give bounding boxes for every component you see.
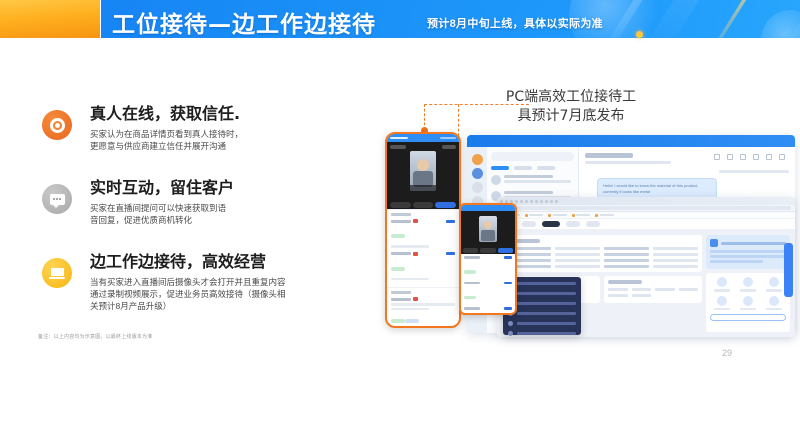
message-list bbox=[461, 254, 515, 315]
record-dot-icon bbox=[42, 110, 72, 140]
browser-bookmarks-bar[interactable] bbox=[497, 212, 795, 219]
quick-actions-panel[interactable] bbox=[706, 273, 790, 332]
feature-desc-line: 买家认为在商品详情页看到真人接待时， bbox=[90, 128, 360, 140]
page-title: 工位接待—边工作边接待 bbox=[112, 5, 376, 39]
mobile-overlay-screenshot bbox=[459, 203, 517, 315]
callout-annotation: PC端高效工位接待工 具预计7月底发布 bbox=[486, 88, 656, 126]
header-accent-dot bbox=[636, 31, 643, 38]
feature-desc-line: 当有买家进入直播间后摄像头才会打开并且重复内容 bbox=[90, 276, 360, 288]
header-orange-block bbox=[0, 0, 100, 38]
list-item bbox=[491, 175, 574, 185]
list-item bbox=[391, 219, 455, 248]
product-screenshot-collage: Hello! I would like to know the material… bbox=[375, 125, 795, 335]
livestream-video-area bbox=[461, 211, 515, 247]
feature-item-realperson: 真人在线，获取信任. 买家认为在商品详情页看到真人接待时， 更愿意与供应商建立信… bbox=[40, 104, 360, 166]
header-light-streak bbox=[707, 0, 755, 38]
detail-card bbox=[604, 276, 702, 303]
livestream-video-area bbox=[387, 142, 459, 200]
feature-desc-line: 音回复，促进优质商机转化 bbox=[90, 214, 360, 226]
chat-toolbar[interactable] bbox=[585, 154, 785, 160]
browser-tabbar bbox=[497, 197, 795, 205]
feature-desc-line: 关预计8月产品升级） bbox=[90, 300, 360, 312]
livestream-action-buttons[interactable] bbox=[461, 247, 515, 254]
feature-item-workwhile: 边工作边接待，高效经营 当有买家进入直播间后摄像头才会打开并且重复内容 通过录制… bbox=[40, 252, 360, 314]
feature-item-interaction: 实时互动，留住客户 买家在直播间提问可以快速获取到语 音回复，促进优质商机转化 bbox=[40, 178, 360, 240]
chat-bubble-icon bbox=[42, 184, 72, 214]
callout-line-2: 具预计7月底发布 bbox=[486, 107, 656, 126]
list-item bbox=[391, 252, 455, 281]
feature-desc-line: 通过录制视频展示，促进业务员高效接待（摄像头相 bbox=[90, 288, 360, 300]
floating-side-panel[interactable] bbox=[784, 243, 793, 297]
message-section bbox=[387, 287, 459, 328]
livestream-action-buttons[interactable] bbox=[387, 200, 459, 209]
slide-header: 工位接待—边工作边接待 预计8月中旬上线，具体以实际为准 bbox=[0, 0, 800, 40]
feature-title: 边工作边接待，高效经营 bbox=[90, 252, 360, 272]
stats-card bbox=[502, 235, 702, 272]
app-toolbar[interactable] bbox=[497, 219, 795, 230]
list-item bbox=[391, 297, 455, 328]
laptop-icon bbox=[42, 258, 72, 288]
search-input[interactable] bbox=[491, 152, 574, 161]
app-titlebar bbox=[467, 135, 795, 147]
browser-address-bar[interactable] bbox=[497, 205, 795, 212]
feature-title: 真人在线，获取信任. bbox=[90, 104, 360, 124]
mobile-statusbar bbox=[387, 134, 459, 142]
more-actions-button[interactable] bbox=[710, 314, 786, 321]
message-section bbox=[387, 209, 459, 287]
feature-title: 实时互动，留住客户 bbox=[90, 178, 360, 198]
header-subtitle: 预计8月中旬上线，具体以实际为准 bbox=[427, 15, 603, 31]
page-number: 29 bbox=[722, 348, 732, 358]
feature-desc-line: 更愿意与供应商建立信任并展开沟通 bbox=[90, 140, 360, 152]
footnote: 备注：以上内容均为示意图，以最终上线版本为准 bbox=[38, 333, 152, 340]
feature-list: 真人在线，获取信任. 买家认为在商品详情页看到真人接待时， 更愿意与供应商建立信… bbox=[40, 104, 360, 326]
callout-leader-line bbox=[424, 104, 529, 105]
feature-desc-line: 买家在直播间提问可以快速获取到语 bbox=[90, 202, 360, 214]
mobile-livestream-screenshot bbox=[385, 132, 461, 328]
account-card bbox=[706, 235, 790, 269]
